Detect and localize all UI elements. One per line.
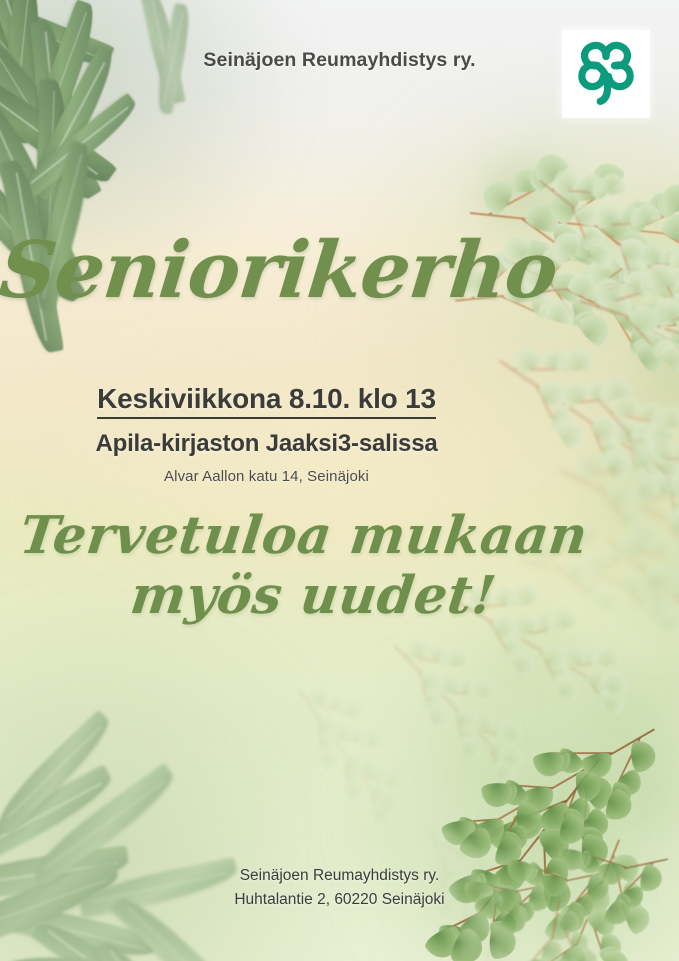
- fern-leaflet: [636, 252, 673, 284]
- fern-leaflet: [661, 299, 679, 328]
- fern-branch-stem: [346, 754, 348, 791]
- fern-leaflet: [372, 803, 393, 828]
- fern-leaflet: [548, 165, 582, 196]
- bokeh-blob: [627, 155, 679, 276]
- fern-leaflet: [597, 941, 626, 961]
- fern-leaflet: [560, 230, 592, 258]
- leaf: [3, 950, 190, 961]
- bokeh-blob: [425, 686, 550, 819]
- fern-leaflet: [370, 797, 391, 820]
- fern-leaflet: [588, 411, 623, 448]
- fern-branch-stem: [549, 753, 613, 754]
- fern-branch-stem: [403, 654, 457, 666]
- fern-leaflet: [566, 270, 601, 299]
- fern-branch-stem: [515, 626, 566, 636]
- fern-branch-stem: [664, 517, 679, 564]
- fern-leaflet: [635, 469, 664, 502]
- fern-leaflet: [598, 684, 631, 717]
- fern-leaflet: [612, 243, 637, 271]
- fern-leaflet: [540, 346, 571, 373]
- fern-leaflet: [356, 730, 375, 747]
- fern-leaflet: [320, 746, 340, 770]
- fern-leaflet: [668, 320, 679, 359]
- fern-leaflet: [472, 816, 509, 848]
- fern-leaflet: [669, 575, 679, 605]
- fern-leaflet: [665, 247, 679, 270]
- fern-leaflet: [509, 812, 544, 842]
- fern-branch-stem: [626, 282, 665, 297]
- fern-leaflet: [623, 471, 661, 509]
- fern-branch-stem: [489, 744, 500, 775]
- fern-leaflet: [496, 927, 524, 953]
- fern-leaflet: [621, 229, 650, 263]
- fern-leaflet: [562, 806, 585, 833]
- bokeh-blob: [539, 182, 679, 368]
- fern-leaflet: [373, 801, 391, 821]
- fern-leaflet: [572, 174, 607, 204]
- fern-leaflet: [672, 509, 679, 541]
- fern-branch-stem: [456, 819, 498, 823]
- fern-branch-stem: [668, 589, 679, 590]
- fern-leaflet: [535, 375, 571, 412]
- fern-leaflet: [615, 445, 644, 474]
- fern-stem: [471, 728, 655, 835]
- fern-leaflet: [632, 335, 671, 376]
- fern-leaflet: [507, 644, 532, 669]
- fern-leaflet: [588, 272, 627, 311]
- fern-leaflet: [639, 588, 660, 614]
- fern-leaflet: [635, 238, 668, 268]
- fern-branch-stem: [536, 385, 564, 440]
- fern-leaflet: [632, 201, 662, 225]
- fern-leaflet: [460, 935, 478, 958]
- fern-leaflet: [585, 234, 610, 260]
- footer-org-address: Huhtalantie 2, 60220 Seinäjoki: [0, 888, 679, 912]
- fern-leaflet: [440, 819, 475, 848]
- fern-branch-stem: [620, 581, 654, 616]
- fern-stem: [299, 690, 384, 806]
- fern-leaflet: [575, 308, 615, 349]
- fern-branch-stem: [502, 800, 567, 828]
- fern-leaflet: [579, 770, 618, 812]
- fern-leaflet: [611, 232, 649, 269]
- fern-leaflet: [563, 234, 594, 264]
- fern-branch-stem: [634, 487, 679, 505]
- fern-leaflet: [642, 268, 673, 301]
- fern-branch-stem: [498, 804, 524, 848]
- fern-leaflet: [570, 941, 594, 961]
- fern-leaflet: [618, 234, 650, 268]
- fern-branch-stem: [620, 243, 636, 289]
- fern-leaflet: [663, 468, 679, 497]
- fern-leaflet: [654, 335, 679, 364]
- fern-leaflet: [460, 732, 480, 754]
- fern-leaflet: [671, 287, 679, 313]
- fern-leaflet: [614, 527, 648, 559]
- fern-leaflet: [647, 292, 679, 331]
- fern-leaflet: [612, 767, 647, 801]
- fern-leaflet: [574, 768, 604, 804]
- fern-leaflet: [457, 922, 482, 947]
- poster: Seinäjoen Reumayhdistys ry. Seniorikerho…: [0, 0, 679, 961]
- fern-leaflet: [317, 713, 339, 738]
- fern-leaflet: [618, 567, 652, 599]
- fern-leaflet: [672, 247, 679, 269]
- fern-leaflet: [455, 838, 479, 863]
- fern-leaflet: [608, 391, 641, 420]
- fern-leaflet: [660, 262, 679, 296]
- fern-leaflet: [495, 931, 513, 945]
- fern-leaflet: [636, 398, 667, 427]
- fern-leaflet: [418, 666, 445, 696]
- fern-leaflet: [626, 426, 657, 460]
- fern-leaflet: [426, 642, 452, 667]
- fern-leaflet: [669, 301, 679, 331]
- fern-branch-stem: [582, 774, 589, 852]
- fern-leaflet: [589, 283, 618, 315]
- fern-leaflet: [434, 670, 463, 697]
- fern-leaflet: [603, 263, 634, 288]
- fern-leaflet: [630, 454, 658, 484]
- fern-leaflet: [580, 643, 608, 668]
- fern-leaflet: [641, 593, 667, 618]
- fern-branch-stem: [613, 312, 643, 362]
- fern-leaflet: [481, 783, 513, 808]
- fern-branch-stem: [551, 189, 613, 195]
- fern-leaflet: [668, 551, 679, 581]
- fern-leaflet: [426, 699, 447, 722]
- fern-leaflet: [607, 413, 643, 446]
- fern-leaflet: [552, 745, 587, 779]
- fern-leaflet: [553, 348, 581, 374]
- fern-branch-stem: [602, 489, 640, 541]
- fern-leaflet: [553, 669, 578, 695]
- fern-leaflet: [623, 271, 652, 294]
- fern-leaflet: [658, 242, 679, 270]
- fern-branch-stem: [371, 789, 377, 817]
- fern-leaflet: [634, 464, 658, 490]
- leaf: [94, 935, 208, 961]
- fern-leaflet: [618, 526, 654, 559]
- fern-leaflet: [650, 272, 679, 301]
- fern-branch-stem: [597, 226, 644, 266]
- event-address: Alvar Aallon katu 14, Seinäjoki: [0, 468, 533, 485]
- fern-leaflet: [584, 156, 627, 198]
- fern-leaflet: [525, 160, 555, 193]
- fern-leaflet: [649, 531, 679, 560]
- fern-leaflet: [545, 751, 573, 775]
- fern-leaflet: [461, 931, 476, 949]
- bokeh-blob: [629, 597, 679, 722]
- fern-branch-stem: [498, 784, 553, 789]
- fern-leaflet: [654, 178, 679, 218]
- fern-branch-stem: [359, 772, 390, 787]
- fern-leaflet: [586, 237, 617, 271]
- fern-leaflet: [371, 764, 394, 787]
- fern-branch-stem: [561, 771, 583, 829]
- fern-leaflet: [584, 169, 613, 201]
- fern-leaflet: [516, 802, 541, 834]
- fern-leaflet: [494, 757, 520, 786]
- fern-leaflet: [341, 698, 365, 719]
- bokeh-blob: [578, 719, 679, 871]
- fern-leaflet: [657, 404, 679, 429]
- fern-leaflet: [670, 437, 679, 465]
- fern-branch-stem: [437, 913, 479, 935]
- fern-stem: [579, 300, 679, 367]
- fern-leaflet: [623, 262, 655, 288]
- fern-branch-stem: [581, 280, 642, 297]
- welcome-line-2: myös uudet!: [0, 566, 600, 626]
- fern-leaflet: [644, 432, 678, 463]
- poster-footer: Seinäjoen Reumayhdistys ry. Huhtalantie …: [0, 864, 679, 912]
- fern-branch-stem: [669, 478, 677, 527]
- fern-branch-stem: [541, 650, 563, 693]
- fern-leaflet: [454, 909, 497, 951]
- fern-leaflet: [590, 174, 616, 198]
- fern-leaflet: [570, 298, 594, 328]
- fern-leaflet: [509, 646, 541, 679]
- fern-leaflet: [632, 296, 673, 335]
- fern-branch-stem: [621, 550, 679, 558]
- fern-leaflet: [437, 831, 460, 849]
- fern-leaflet: [571, 198, 604, 232]
- fern-branch-stem: [616, 439, 662, 444]
- fern-branch-stem: [559, 185, 615, 223]
- bokeh-blob: [532, 608, 679, 812]
- fern-leaflet: [671, 288, 679, 322]
- fern-branch-stem: [608, 737, 641, 802]
- fern-branch-stem: [533, 944, 578, 961]
- fern-leaflet: [436, 923, 470, 952]
- fern-leaflet: [438, 648, 460, 667]
- fern-leaflet: [596, 206, 638, 244]
- fern-branch-stem: [487, 177, 557, 215]
- fern-branch-stem: [512, 369, 579, 370]
- fern-leaflet: [602, 447, 632, 472]
- fern-leaflet: [650, 445, 679, 480]
- fern-leaflet: [533, 751, 567, 778]
- fern-leaflet: [550, 404, 575, 433]
- fern-branch-stem: [671, 340, 679, 375]
- fern-leaflet: [539, 639, 572, 672]
- fern-branch-stem: [306, 699, 352, 716]
- fern-branch-stem: [648, 574, 679, 589]
- fern-leaflet: [603, 540, 629, 562]
- fern-leaflet: [444, 647, 470, 668]
- fern-leaflet: [600, 933, 621, 960]
- fern-leaflet: [488, 907, 522, 944]
- fern-leaflet: [653, 188, 679, 221]
- bokeh-blob: [236, 669, 365, 801]
- organization-title: Seinäjoen Reumayhdistys ry.: [203, 49, 475, 72]
- fern-leaflet: [667, 471, 679, 505]
- fern-leaflet: [489, 924, 516, 959]
- fern-leaflet: [472, 678, 496, 696]
- fern-leaflet: [640, 421, 668, 447]
- fern-leaflet: [555, 942, 592, 961]
- fern-leaflet: [673, 269, 679, 302]
- fern-branch-stem: [486, 946, 487, 961]
- fern-leaflet: [628, 266, 653, 292]
- fern-leaflet: [456, 674, 482, 698]
- fern-branch-stem: [643, 261, 679, 268]
- fern-leaflet: [579, 750, 615, 781]
- fern-branch-stem: [673, 593, 679, 617]
- fern-leaflet: [602, 476, 640, 514]
- fern-leaflet: [663, 536, 679, 561]
- fern-leaflet: [661, 561, 679, 580]
- fern-leaflet: [573, 306, 604, 337]
- fern-branch-stem: [477, 927, 507, 948]
- fern-leaflet: [455, 703, 481, 732]
- fern-leaflet: [597, 290, 623, 313]
- fern-leaflet: [663, 503, 679, 541]
- fern-leaflet: [631, 333, 662, 364]
- fern-leaflet: [356, 759, 379, 778]
- fern-leaflet: [466, 850, 484, 864]
- fern-leaflet: [667, 461, 679, 494]
- fern-branch-stem: [649, 455, 679, 464]
- fern-leaflet: [555, 416, 589, 453]
- fern-leaflet: [603, 786, 636, 824]
- fern-leaflet: [630, 739, 657, 773]
- fern-leaflet: [489, 922, 513, 947]
- fern-leaflet: [422, 924, 465, 961]
- fern-leaflet: [542, 909, 579, 946]
- fern-leaflet: [629, 515, 667, 553]
- fern-leaflet: [601, 945, 634, 961]
- fern-leaflet: [642, 561, 676, 597]
- fern-leaflet: [675, 297, 679, 327]
- fern-leaflet: [539, 937, 567, 961]
- fern-leaflet: [465, 678, 487, 699]
- fern-leaflet: [320, 742, 337, 761]
- fern-leaflet: [496, 777, 531, 811]
- fern-leaflet: [469, 710, 497, 734]
- fern-leaflet: [598, 667, 632, 697]
- fern-stem: [599, 400, 679, 541]
- fern-leaflet: [660, 210, 679, 245]
- fern-leaflet: [625, 259, 650, 288]
- event-date-wrapper: Keskiviikkona 8.10. klo 13: [0, 382, 533, 419]
- fern-branch-stem: [587, 677, 608, 707]
- fern-leaflet: [317, 734, 339, 757]
- fern-branch-stem: [639, 454, 660, 489]
- fern-leaflet: [624, 506, 646, 534]
- fern-leaflet: [562, 346, 593, 371]
- fern-leaflet: [649, 406, 674, 428]
- fern-leaflet: [578, 822, 608, 854]
- fern-leaflet: [487, 818, 529, 857]
- fern-branch-stem: [318, 716, 324, 759]
- leaf: [31, 913, 177, 961]
- fern-leaflet: [379, 768, 404, 790]
- fern-leaflet: [477, 175, 517, 217]
- fern-leaflet: [592, 644, 620, 667]
- fern-leaflet: [643, 593, 677, 626]
- fern-leaflet: [629, 235, 672, 276]
- fern-leaflet: [450, 819, 478, 844]
- fern-leaflet: [622, 439, 658, 470]
- fern-leaflet: [489, 948, 518, 961]
- fern-leaflet: [423, 690, 446, 716]
- page-title: Seniorikerho: [0, 232, 524, 310]
- fern-leaflet: [613, 536, 637, 562]
- fern-leaflet: [345, 779, 364, 802]
- fern-branch-stem: [625, 315, 669, 364]
- fern-leaflet: [528, 148, 571, 189]
- fern-leaflet: [535, 799, 578, 840]
- fern-leaflet: [306, 686, 330, 706]
- fern-leaflet: [656, 599, 679, 627]
- fern-leaflet: [457, 725, 481, 751]
- fern-leaflet: [600, 288, 636, 320]
- fern-leaflet: [487, 916, 516, 948]
- fern-leaflet: [361, 728, 384, 747]
- fern-leaflet: [580, 806, 613, 843]
- bokeh-blob: [602, 309, 679, 466]
- fern-leaflet: [661, 563, 679, 597]
- fern-leaflet: [568, 445, 606, 483]
- fern-leaflet: [457, 824, 499, 865]
- fern-leaflet: [571, 262, 611, 302]
- fern-leaflet: [629, 269, 659, 302]
- fern-branch-stem: [567, 288, 614, 314]
- fern-branch-stem: [598, 257, 637, 286]
- fern-leaflet: [510, 167, 543, 194]
- fern-branch-stem: [663, 277, 679, 311]
- fern-leaflet: [649, 275, 674, 295]
- fern-branch-stem: [643, 569, 665, 625]
- fern-leaflet: [654, 472, 679, 495]
- fern-leaflet: [650, 328, 673, 357]
- fern-leaflet: [613, 260, 644, 291]
- fern-leaflet: [493, 752, 515, 777]
- fern-branch-stem: [572, 206, 594, 258]
- fern-leaflet: [377, 771, 395, 786]
- fern-leaflet: [636, 560, 669, 594]
- fern-leaflet: [647, 421, 677, 444]
- fern-leaflet: [348, 724, 371, 746]
- fern-leaflet: [635, 438, 671, 475]
- fern-leaflet: [652, 589, 678, 619]
- fern-leaflet: [612, 781, 633, 807]
- fern-leaflet: [671, 284, 679, 311]
- fern-leaflet: [657, 603, 679, 639]
- clover-flower-logo-icon: [575, 41, 637, 107]
- fern-branch-stem: [664, 233, 679, 259]
- fern-leaflet: [329, 719, 354, 741]
- fern-leaflet: [488, 715, 514, 740]
- fern-leaflet: [611, 297, 651, 337]
- fern-branch-stem: [557, 912, 581, 961]
- fern-leaflet: [551, 663, 573, 690]
- fern-leaflet: [656, 336, 679, 375]
- fern-branch-stem: [595, 285, 664, 306]
- fern-leaflet: [346, 776, 362, 795]
- fern-leaflet: [553, 413, 581, 441]
- fern-leaflet: [625, 300, 664, 337]
- fern-leaflet: [598, 684, 624, 709]
- fern-leaflet: [589, 199, 623, 231]
- fern-branch-stem: [332, 735, 372, 746]
- fern-leaflet: [521, 785, 556, 814]
- fern-leaflet: [369, 780, 392, 806]
- fern-stem: [394, 645, 507, 762]
- fern-leaflet: [545, 954, 575, 961]
- event-venue: Apila-kirjaston Jaaksi3-salissa: [0, 430, 533, 459]
